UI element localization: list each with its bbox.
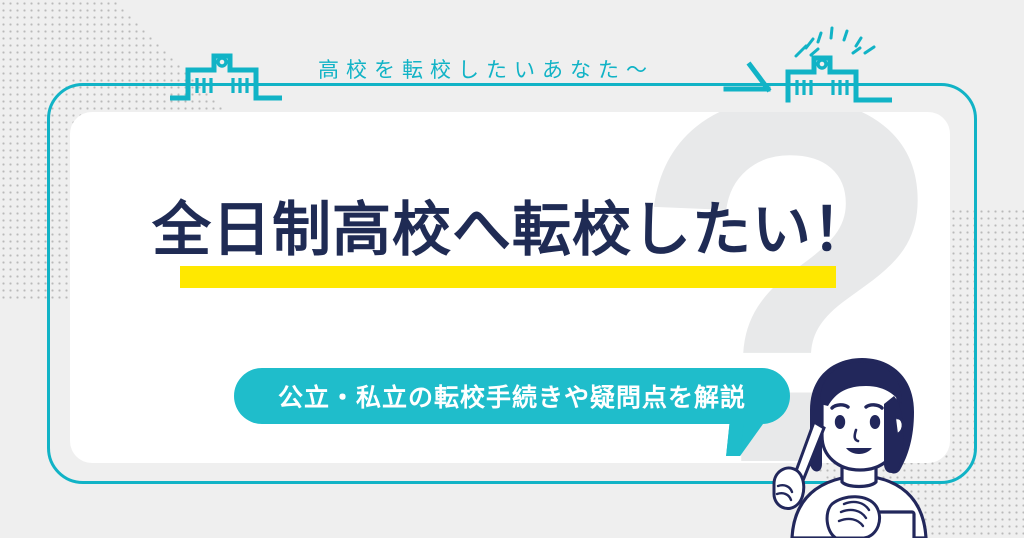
header-banner: 高校を転校したいあなた〜 [0, 0, 1024, 112]
hand-on-clipboard [827, 497, 880, 538]
speech-bubble-tail [726, 420, 766, 456]
header-tagline: 高校を転校したいあなた〜 [318, 54, 654, 84]
hand-with-pen [774, 468, 804, 509]
title-highlight-bar [180, 266, 836, 288]
woman-illustration [770, 352, 980, 538]
page-title-block: 全日制高校へ転校したい！ [0, 198, 1024, 262]
subtitle-bubble: 公立・私立の転校手続きや疑問点を解説 [234, 368, 790, 424]
school-building-icon [170, 40, 282, 108]
subtitle-text: 公立・私立の転校手続きや疑問点を解説 [278, 378, 746, 414]
page-title: 全日制高校へ転校したい！ [152, 198, 872, 262]
school-building-sparkle-icon [780, 22, 892, 110]
arrow-right-down-icon [718, 55, 780, 101]
face [820, 362, 904, 473]
